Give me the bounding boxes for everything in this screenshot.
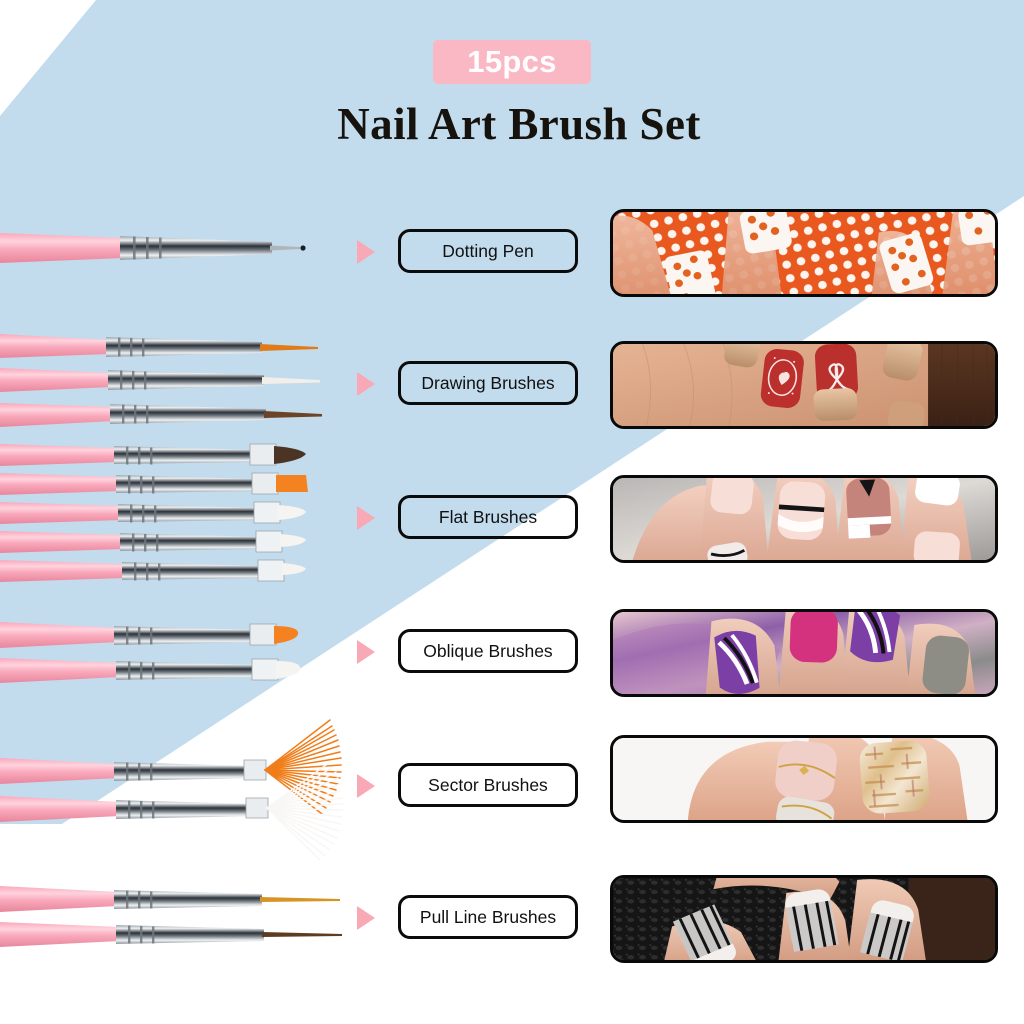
- label-text: Oblique Brushes: [423, 641, 552, 662]
- photo-pink-gold-foil-nails[interactable]: [610, 735, 998, 823]
- label-drawing-brushes[interactable]: Drawing Brushes: [398, 361, 578, 405]
- photo-red-glitter-heart-bow-nails[interactable]: [610, 341, 998, 429]
- pieces-count-badge: 15pcs: [433, 40, 591, 84]
- label-pull-line-brushes[interactable]: Pull Line Brushes: [398, 895, 578, 939]
- triangle-right-icon-oblique-brushes: [357, 640, 375, 664]
- photo-purple-magenta-abstract-stripe-nails[interactable]: [610, 609, 998, 697]
- triangle-right-icon-flat-brushes: [357, 506, 375, 530]
- label-text: Flat Brushes: [439, 507, 537, 528]
- product-row-oblique-brushes: Oblique Brushes: [0, 600, 1024, 710]
- photo-orange-polka-dot-nails[interactable]: [610, 209, 998, 297]
- infographic-canvas: 15pcs Nail Art Brush Set: [0, 0, 1024, 1024]
- label-dotting-pen[interactable]: Dotting Pen: [398, 229, 578, 273]
- pieces-count-label: 15pcs: [467, 44, 556, 80]
- label-flat-brushes[interactable]: Flat Brushes: [398, 495, 578, 539]
- product-row-pull-line-brushes: Pull Line Brushes: [0, 868, 1024, 978]
- product-row-drawing-brushes: Drawing Brushes: [0, 330, 1024, 440]
- label-text: Dotting Pen: [442, 241, 533, 262]
- triangle-right-icon-dotting-pen: [357, 240, 375, 264]
- label-text: Drawing Brushes: [421, 373, 554, 394]
- photo-nude-pink-black-white-stripe-nails[interactable]: [610, 475, 998, 563]
- label-text: Pull Line Brushes: [420, 907, 556, 928]
- brush-illustration-pull-line-brushes: [0, 868, 360, 1024]
- page-title: Nail Art Brush Set: [0, 98, 1024, 150]
- triangle-right-icon-sector-brushes: [357, 774, 375, 798]
- label-text: Sector Brushes: [428, 775, 548, 796]
- product-row-sector-brushes: Sector Brushes: [0, 710, 1024, 870]
- photo-black-white-stripe-nails[interactable]: [610, 875, 998, 963]
- label-oblique-brushes[interactable]: Oblique Brushes: [398, 629, 578, 673]
- label-sector-brushes[interactable]: Sector Brushes: [398, 763, 578, 807]
- triangle-right-icon-pull-line-brushes: [357, 906, 375, 930]
- product-row-flat-brushes: Flat Brushes: [0, 440, 1024, 600]
- triangle-right-icon-drawing-brushes: [357, 372, 375, 396]
- product-row-dotting-pen: Dotting Pen: [0, 198, 1024, 308]
